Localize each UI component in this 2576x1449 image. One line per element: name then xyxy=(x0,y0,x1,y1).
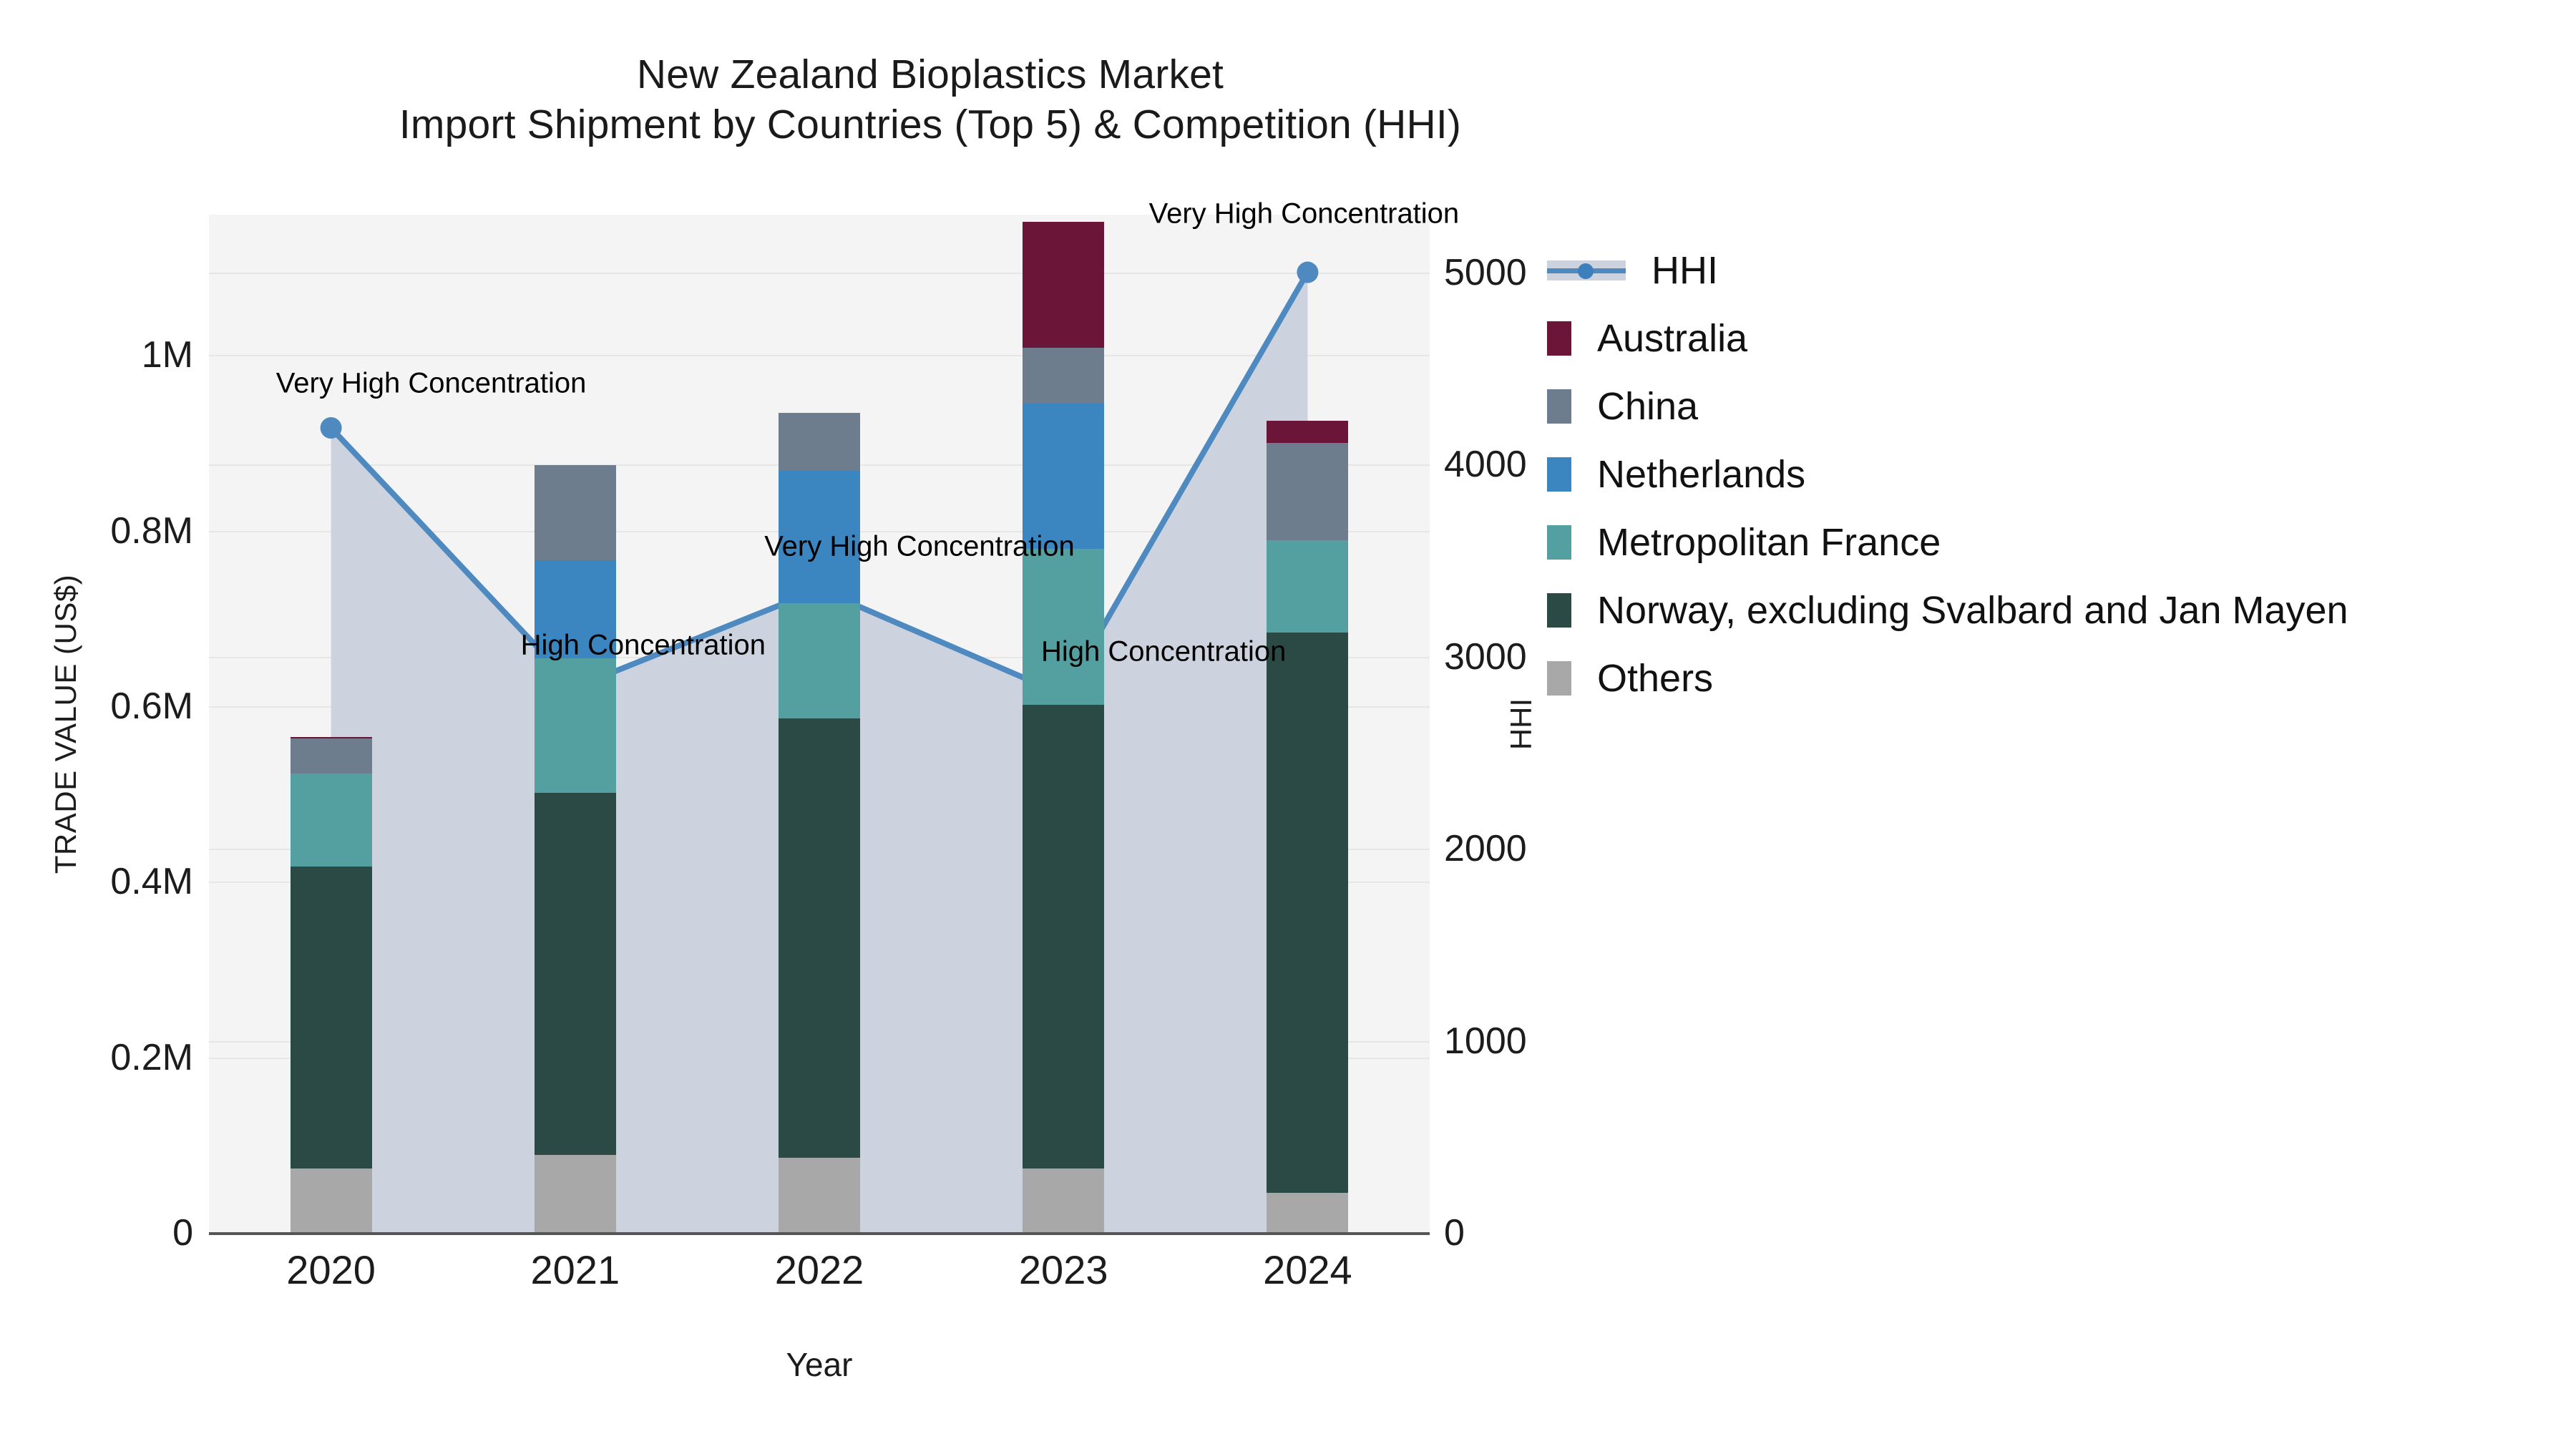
concentration-annotation: Very High Concentration xyxy=(276,368,587,400)
bar-segment[interactable] xyxy=(1023,222,1104,348)
bar-segment[interactable] xyxy=(1023,404,1104,550)
bar-segment[interactable] xyxy=(535,793,616,1154)
bar-segment[interactable] xyxy=(291,867,372,1169)
x-axis-tick-label: 2024 xyxy=(1263,1246,1352,1293)
legend: HHIAustraliaChinaNetherlandsMetropolitan… xyxy=(1547,236,2348,712)
bar-segment[interactable] xyxy=(779,718,860,1157)
bar-segment[interactable] xyxy=(779,603,860,718)
legend-item[interactable]: China xyxy=(1547,372,2348,440)
bar-group[interactable] xyxy=(1023,222,1104,1233)
bar-segment[interactable] xyxy=(291,774,372,867)
bar-segment[interactable] xyxy=(1023,1169,1104,1233)
legend-swatch-icon xyxy=(1547,321,1571,356)
bar-segment[interactable] xyxy=(535,465,616,561)
legend-item[interactable]: Others xyxy=(1547,644,2348,712)
bar-group[interactable] xyxy=(291,737,372,1233)
bar-group[interactable] xyxy=(1267,421,1348,1233)
bar-segment[interactable] xyxy=(291,737,372,738)
legend-swatch-icon xyxy=(1547,525,1571,560)
bar-segment[interactable] xyxy=(1267,421,1348,443)
legend-item-label: China xyxy=(1597,384,1698,429)
chart-title-line-1: New Zealand Bioplastics Market xyxy=(0,50,1860,100)
concentration-annotation: Very High Concentration xyxy=(764,530,1075,562)
legend-line-marker-icon xyxy=(1547,253,1626,288)
legend-item-label: Netherlands xyxy=(1597,452,1805,497)
bar-segment[interactable] xyxy=(1023,705,1104,1169)
chart-title-line-2: Import Shipment by Countries (Top 5) & C… xyxy=(0,100,1860,150)
chart-title: New Zealand Bioplastics Market Import Sh… xyxy=(0,50,1860,150)
legend-item-label: Australia xyxy=(1597,316,1747,361)
bar-segment[interactable] xyxy=(535,1155,616,1233)
y-axis-right-title: HHI xyxy=(1504,509,1538,939)
bar-segment[interactable] xyxy=(1267,633,1348,1193)
chart-canvas: New Zealand Bioplastics Market Import Sh… xyxy=(0,0,2576,1449)
legend-item-label: Metropolitan France xyxy=(1597,520,1941,565)
y-axis-right-tick-label: 0 xyxy=(1444,1211,1465,1254)
legend-swatch-icon xyxy=(1547,457,1571,492)
x-axis-title: Year xyxy=(209,1345,1430,1384)
bar-segment[interactable] xyxy=(1267,443,1348,540)
bar-segment[interactable] xyxy=(1023,549,1104,704)
bar-segment[interactable] xyxy=(535,658,616,794)
y-axis-right-title-wrap: HHI xyxy=(1501,215,1544,1233)
legend-item[interactable]: Metropolitan France xyxy=(1547,508,2348,576)
bar-group[interactable] xyxy=(535,465,616,1233)
x-axis-tick-label: 2021 xyxy=(531,1246,620,1293)
x-axis-tick-label: 2020 xyxy=(286,1246,376,1293)
y-axis-left-title: TRADE VALUE (US$) xyxy=(49,502,83,946)
concentration-annotation: High Concentration xyxy=(1041,636,1286,668)
y-axis-left-title-wrap: TRADE VALUE (US$) xyxy=(21,215,64,1233)
bar-segment[interactable] xyxy=(291,1169,372,1233)
bar-segment[interactable] xyxy=(779,1158,860,1233)
bar-segment[interactable] xyxy=(1023,348,1104,403)
legend-swatch-icon xyxy=(1547,389,1571,424)
x-axis-tick-label: 2022 xyxy=(775,1246,864,1293)
legend-swatch-icon xyxy=(1547,593,1571,628)
legend-item-label: HHI xyxy=(1652,248,1718,293)
bar-segment[interactable] xyxy=(291,738,372,774)
legend-item[interactable]: Netherlands xyxy=(1547,440,2348,508)
legend-swatch-icon xyxy=(1547,661,1571,696)
legend-item-label: Others xyxy=(1597,656,1713,701)
concentration-annotation: High Concentration xyxy=(521,630,766,662)
bar-segment[interactable] xyxy=(1267,1193,1348,1233)
legend-item[interactable]: Norway, excluding Svalbard and Jan Mayen xyxy=(1547,576,2348,644)
x-axis-line xyxy=(209,1232,1430,1235)
x-axis-tick-label: 2023 xyxy=(1019,1246,1108,1293)
concentration-annotation: Very High Concentration xyxy=(1149,197,1460,230)
bar-segment[interactable] xyxy=(1267,540,1348,633)
bar-segment[interactable] xyxy=(779,413,860,471)
legend-item[interactable]: HHI xyxy=(1547,236,2348,304)
legend-item-label: Norway, excluding Svalbard and Jan Mayen xyxy=(1597,588,2348,633)
legend-item[interactable]: Australia xyxy=(1547,304,2348,372)
